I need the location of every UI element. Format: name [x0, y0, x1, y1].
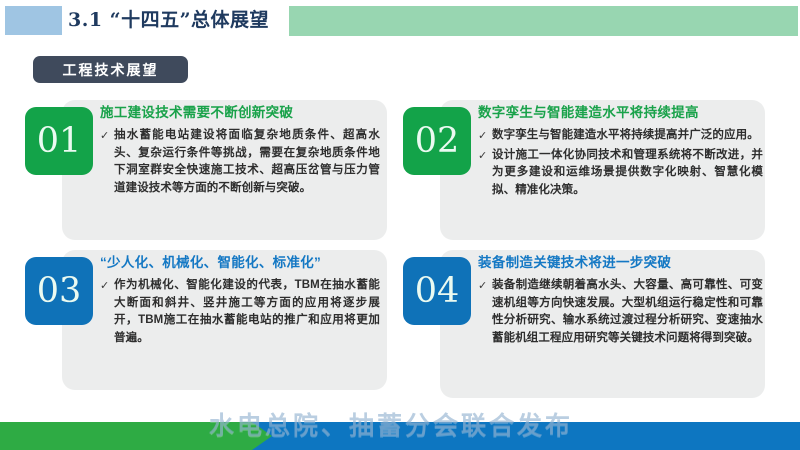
- card-01-bullets: ✓ 抽水蓄能电站建设将面临复杂地质条件、超高水头、复杂运行条件等挑战，需要在复杂…: [100, 127, 380, 197]
- card-02-badge: 02: [403, 107, 471, 175]
- card-04-title: 装备制造关键技术将进一步突破: [478, 254, 763, 272]
- card-02-bullet-1: 数字孪生与智能建造水平将持续提高并广泛的应用。: [492, 127, 763, 144]
- card-04-bullets: ✓ 装备制造继续朝着高水头、大容量、高可靠性、可变速机组等方向快速发展。大型机组…: [478, 277, 763, 347]
- check-icon: ✓: [478, 127, 492, 145]
- card-03-body: “少人化、机械化、智能化、标准化” ✓ 作为机械化、智能化建设的代表，TBM在抽…: [100, 254, 380, 349]
- card-01-number: 01: [37, 124, 82, 159]
- slide-footer: 水电总院、抽蓄分会联合发布: [0, 422, 800, 450]
- card-02-bullet-2: 设计施工一体化协同技术和管理系统将不断改进，并为更多建设和运维场景提供数字化映射…: [492, 147, 763, 199]
- section-tag: 工程技术展望: [33, 56, 188, 83]
- check-icon: ✓: [478, 147, 492, 165]
- cards-grid: 01 施工建设技术需要不断创新突破 ✓ 抽水蓄能电站建设将面临复杂地质条件、超高…: [0, 98, 800, 403]
- card-03-title: “少人化、机械化、智能化、标准化”: [100, 254, 380, 272]
- card-02-number: 02: [415, 124, 460, 159]
- list-item: ✓ 装备制造继续朝着高水头、大容量、高可靠性、可变速机组等方向快速发展。大型机组…: [478, 277, 763, 347]
- card-03-number: 03: [37, 274, 82, 309]
- list-item: ✓ 抽水蓄能电站建设将面临复杂地质条件、超高水头、复杂运行条件等挑战，需要在复杂…: [100, 127, 380, 197]
- header-blue-accent-block: [5, 6, 62, 35]
- page-title: 3.1 “十四五”总体展望: [68, 5, 269, 35]
- check-icon: ✓: [100, 127, 114, 145]
- card-04-badge: 04: [403, 257, 471, 325]
- section-tag-label: 工程技术展望: [63, 60, 159, 80]
- card-02-bullets: ✓ 数字孪生与智能建造水平将持续提高并广泛的应用。 ✓ 设计施工一体化协同技术和…: [478, 127, 763, 199]
- card-01-title: 施工建设技术需要不断创新突破: [100, 104, 380, 122]
- list-item: ✓ 作为机械化、智能化建设的代表，TBM在抽水蓄能大断面和斜井、竖井施工等方面的…: [100, 277, 380, 347]
- card-02-body: 数字孪生与智能建造水平将持续提高 ✓ 数字孪生与智能建造水平将持续提高并广泛的应…: [478, 104, 763, 201]
- check-icon: ✓: [100, 277, 114, 295]
- card-01-body: 施工建设技术需要不断创新突破 ✓ 抽水蓄能电站建设将面临复杂地质条件、超高水头、…: [100, 104, 380, 199]
- list-item: ✓ 设计施工一体化协同技术和管理系统将不断改进，并为更多建设和运维场景提供数字化…: [478, 147, 763, 199]
- check-icon: ✓: [478, 277, 492, 295]
- card-04-bullet-1: 装备制造继续朝着高水头、大容量、高可靠性、可变速机组等方向快速发展。大型机组运行…: [492, 277, 763, 347]
- footer-green-arrow-bar: [0, 422, 272, 450]
- card-03-bullets: ✓ 作为机械化、智能化建设的代表，TBM在抽水蓄能大断面和斜井、竖井施工等方面的…: [100, 277, 380, 347]
- card-02-title: 数字孪生与智能建造水平将持续提高: [478, 104, 763, 122]
- header-green-bar: [289, 6, 798, 36]
- list-item: ✓ 数字孪生与智能建造水平将持续提高并广泛的应用。: [478, 127, 763, 145]
- card-04-body: 装备制造关键技术将进一步突破 ✓ 装备制造继续朝着高水头、大容量、高可靠性、可变…: [478, 254, 763, 349]
- card-01-bullet-1: 抽水蓄能电站建设将面临复杂地质条件、超高水头、复杂运行条件等挑战，需要在复杂地质…: [114, 127, 380, 197]
- card-01-badge: 01: [25, 107, 93, 175]
- slide-root: { "header": { "title": "3.1 “十四五”总体展望", …: [0, 0, 800, 450]
- card-03-bullet-1: 作为机械化、智能化建设的代表，TBM在抽水蓄能大断面和斜井、竖井施工等方面的应用…: [114, 277, 380, 347]
- card-04-number: 04: [415, 274, 460, 309]
- card-03-badge: 03: [25, 257, 93, 325]
- slide-header: 3.1 “十四五”总体展望: [0, 0, 800, 42]
